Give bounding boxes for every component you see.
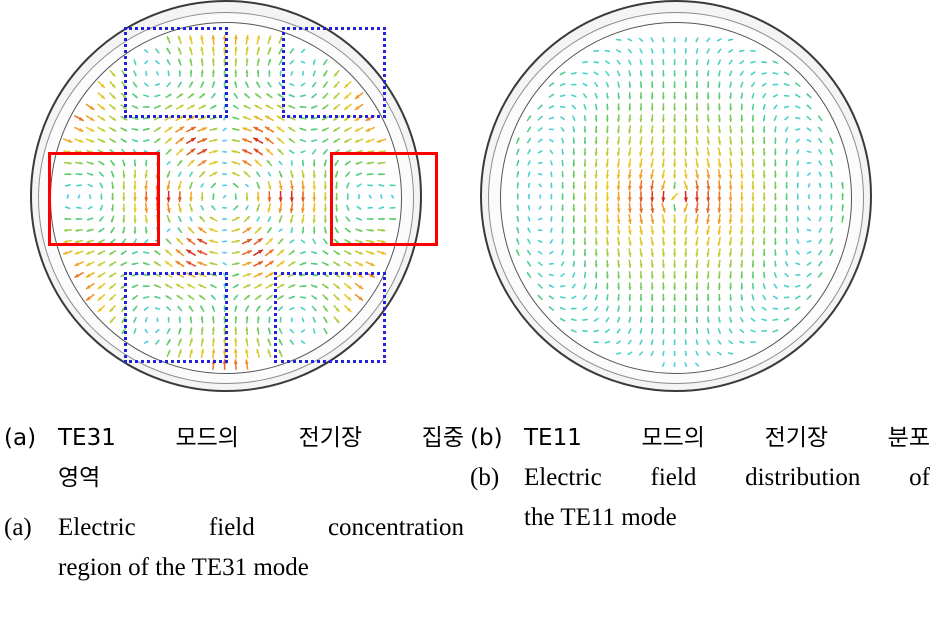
highlight-box-red-left	[48, 152, 160, 246]
vector-field-te11	[501, 23, 850, 372]
caption-a-korean-text1: TE31 모드의 전기장 집중	[58, 418, 464, 458]
caption-a-korean-line1: (a) TE31 모드의 전기장 집중	[4, 418, 464, 458]
caption-b-korean-line1: (b) TE11 모드의 전기장 분포	[470, 418, 930, 458]
figure-container: (a) TE31 모드의 전기장 집중 영역 (a) Electric fiel…	[0, 0, 932, 620]
highlight-box-blue-top-right	[282, 27, 386, 118]
caption-a-gap	[4, 498, 464, 508]
caption-a-english-text1: Electric field concentration	[58, 508, 464, 548]
highlight-box-red-right	[330, 152, 438, 246]
highlight-box-blue-bottom-left	[124, 272, 228, 363]
panel-te11	[480, 0, 880, 400]
highlight-box-blue-top-left	[124, 27, 228, 118]
caption-a-korean-text2: 영역	[58, 458, 464, 498]
caption-a-english-text2: region of the TE31 mode	[58, 548, 464, 588]
caption-a-english-line2: region of the TE31 mode	[4, 548, 464, 588]
caption-b-english-line1: (b) Electric field distribution of	[470, 458, 930, 498]
waveguide-cross-section-te31	[30, 0, 430, 400]
caption-b-english-label: (b)	[470, 458, 524, 498]
caption-b-english-text2: the TE11 mode	[524, 498, 930, 538]
caption-a-korean-line2: 영역	[4, 458, 464, 498]
caption-a-english-label: (a)	[4, 508, 58, 548]
waveguide-cross-section-te11	[480, 0, 880, 400]
caption-column-b: (b) TE11 모드의 전기장 분포 (b) Electric field d…	[470, 418, 930, 538]
figure-captions: (a) TE31 모드의 전기장 집중 영역 (a) Electric fiel…	[0, 418, 932, 618]
caption-b-korean-label: (b)	[470, 418, 524, 458]
caption-a-korean-label: (a)	[4, 418, 58, 458]
highlight-box-blue-bottom-right	[274, 272, 386, 363]
caption-column-a: (a) TE31 모드의 전기장 집중 영역 (a) Electric fiel…	[4, 418, 464, 588]
caption-b-english-text1: Electric field distribution of	[524, 458, 930, 498]
panel-te31	[30, 0, 430, 400]
caption-b-english-line2: the TE11 mode	[470, 498, 930, 538]
field-plot-te11	[500, 22, 852, 374]
caption-a-english-line1: (a) Electric field concentration	[4, 508, 464, 548]
caption-b-korean-text1: TE11 모드의 전기장 분포	[524, 418, 930, 458]
